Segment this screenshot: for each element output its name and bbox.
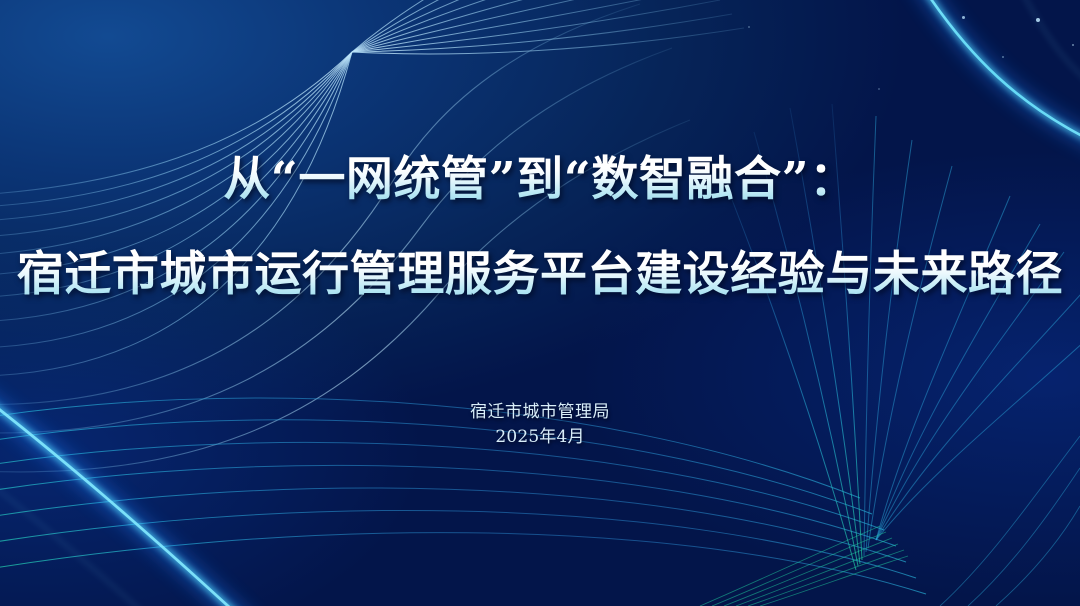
- title-slide: 从“一网统管”到“数智融合”： 宿迁市城市运行管理服务平台建设经验与未来路径 宿…: [0, 0, 1080, 606]
- title-line-2: 宿迁市城市运行管理服务平台建设经验与未来路径: [0, 247, 1080, 302]
- slide-subtitle: 宿迁市城市管理局 2025年4月: [0, 400, 1080, 449]
- slide-content: 从“一网统管”到“数智融合”： 宿迁市城市运行管理服务平台建设经验与未来路径 宿…: [0, 0, 1080, 606]
- subtitle-organization: 宿迁市城市管理局: [0, 400, 1080, 425]
- slide-title: 从“一网统管”到“数智融合”： 宿迁市城市运行管理服务平台建设经验与未来路径: [0, 152, 1080, 303]
- title-line-1: 从“一网统管”到“数智融合”：: [0, 152, 1080, 207]
- subtitle-date: 2025年4月: [0, 425, 1080, 450]
